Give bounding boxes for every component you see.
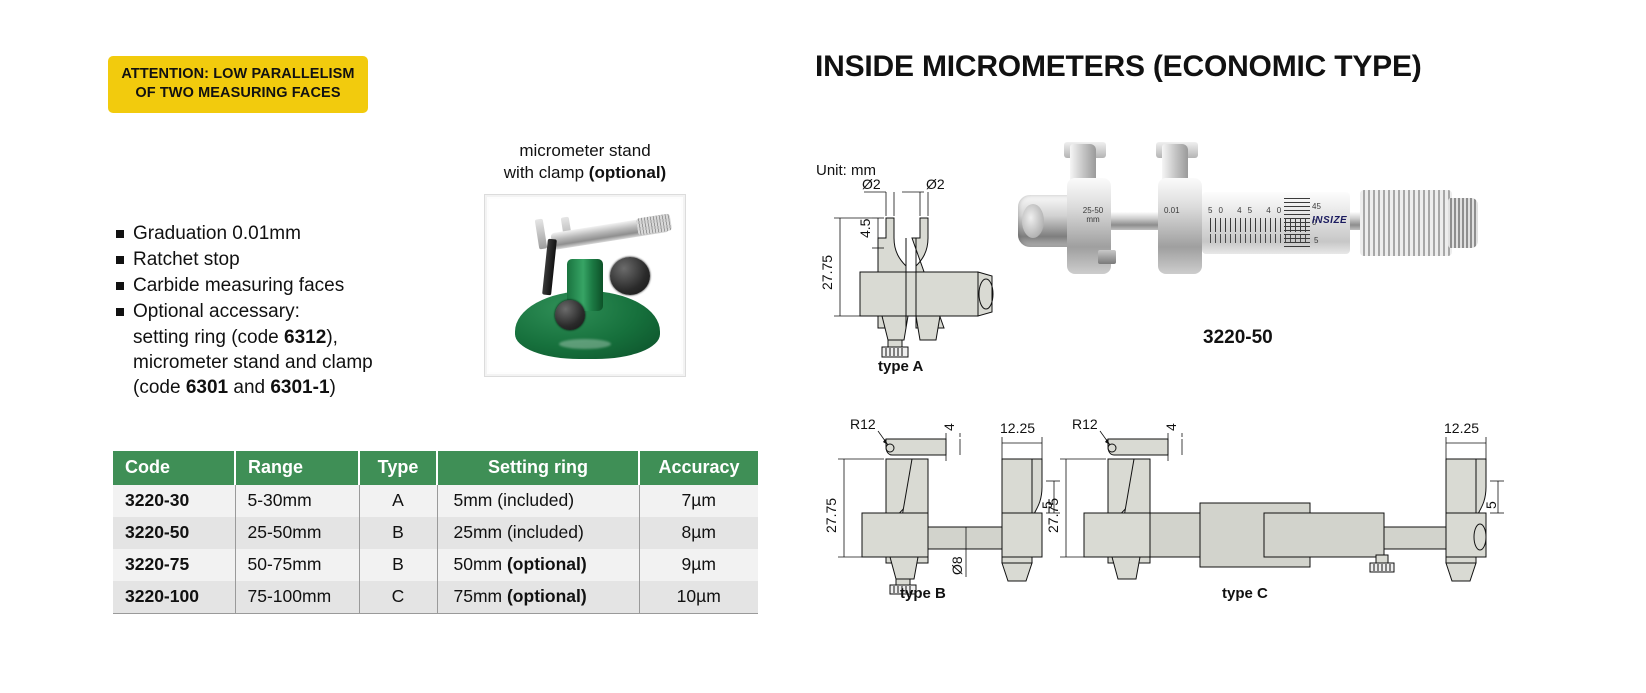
photo-thimble-5: 5 (1314, 236, 1318, 245)
square-bullet-icon (116, 308, 124, 316)
dim-radius: R12 (850, 416, 876, 432)
cell-setting-ring: 5mm (included) (437, 485, 639, 517)
subline-post: ), (326, 327, 338, 348)
cell-accuracy: 10µm (639, 581, 758, 614)
feature-label: Carbide measuring faces (133, 273, 344, 298)
ratchet-stop (1448, 198, 1478, 248)
stand-base-highlight (559, 339, 611, 349)
list-item: Carbide measuring faces (116, 273, 476, 298)
cell-range: 50-75mm (235, 549, 359, 581)
table-row[interactable]: 3220-100 75-100mm C 75mm (optional) 10µm (113, 581, 758, 614)
dim-thickness: 4 (941, 423, 957, 431)
stand-photo-caption: micrometer stand with clamp (optional) (470, 140, 700, 184)
caption-line-2: with clamp (optional) (470, 162, 700, 184)
micrometer-jaw-left (535, 219, 548, 250)
cell-range: 5-30mm (235, 485, 359, 517)
cell-setting-ring: 25mm (included) (437, 517, 639, 549)
dim-jaw: 5 (1483, 501, 1499, 509)
column-header-setting-ring: Setting ring (437, 451, 639, 485)
stand-photo-inner (489, 199, 681, 372)
dim-width: 12.25 (1000, 420, 1035, 436)
dim-width: 12.25 (1444, 420, 1479, 436)
table-row[interactable]: 3220-50 25-50mm B 25mm (included) 8µm (113, 517, 758, 549)
feature-label: Optional accessary: (133, 299, 300, 324)
dim-thickness: 4 (1163, 423, 1179, 431)
cell-accuracy: 7µm (639, 485, 758, 517)
ring-availability: (included) (497, 490, 574, 510)
type-a-drawing: Ø2 Ø2 4.5 27.75 (820, 180, 1010, 360)
type-c-drawing: R12 4 12.25 27.75 5 (1040, 415, 1490, 590)
caption-line-1: micrometer stand (470, 140, 700, 162)
photo-thimble-45: 45 (1312, 202, 1321, 211)
caption-type-a: type A (878, 358, 923, 375)
clamp-knob-large (610, 257, 650, 295)
list-item: Optional accessary: (116, 299, 476, 324)
optional-emphasis: (optional) (589, 163, 666, 182)
cell-type: B (359, 549, 437, 581)
subline-pre: micrometer stand and clamp (133, 352, 373, 373)
feature-subline-setting-ring: setting ring (code 6312), (116, 325, 476, 350)
model-number-label: 3220-50 (1203, 327, 1273, 349)
cell-range: 75-100mm (235, 581, 359, 614)
dim-radius: R12 (1072, 416, 1098, 432)
caption-type-b: type B (900, 585, 946, 602)
cell-code: 3220-75 (113, 549, 235, 581)
code-6301-1: 6301-1 (270, 377, 329, 398)
ring-availability: (included) (507, 522, 584, 542)
cell-code: 3220-30 (113, 485, 235, 517)
attention-warning-badge: ATTENTION: LOW PARALLELISM OF TWO MEASUR… (108, 56, 368, 113)
cell-code: 3220-50 (113, 517, 235, 549)
square-bullet-icon (116, 256, 124, 264)
cell-type: B (359, 517, 437, 549)
subline-post: ) (330, 377, 336, 398)
cell-setting-ring: 50mm (optional) (437, 549, 639, 581)
list-item: Ratchet stop (116, 247, 476, 272)
micrometer-thimble (1360, 190, 1452, 256)
feature-list: Graduation 0.01mm Ratchet stop Carbide m… (116, 221, 476, 400)
specification-table: Code Range Type Setting ring Accuracy 32… (113, 451, 758, 614)
feature-label: Ratchet stop (133, 247, 240, 272)
square-bullet-icon (116, 282, 124, 290)
cell-range: 25-50mm (235, 517, 359, 549)
photo-graduation-marking: 0.01 (1164, 206, 1180, 215)
photo-range-marking: 25-50 mm (1074, 206, 1112, 224)
thimble-scale-marks (1284, 198, 1310, 248)
column-header-range: Range (235, 451, 359, 485)
clamp-knob-small (555, 300, 585, 330)
dim-height: 27.75 (823, 498, 839, 533)
subline-mid: and (228, 377, 270, 398)
column-header-accuracy: Accuracy (639, 451, 758, 485)
table-row[interactable]: 3220-75 50-75mm B 50mm (optional) 9µm (113, 549, 758, 581)
dim-height: 27.75 (819, 255, 835, 290)
locking-screw (1098, 250, 1116, 264)
code-6301: 6301 (186, 377, 228, 398)
dim-dia-right: Ø2 (926, 176, 945, 192)
subline-pre: setting ring (code (133, 327, 284, 348)
column-header-code: Code (113, 451, 235, 485)
cell-type: C (359, 581, 437, 614)
cell-setting-ring: 75mm (optional) (437, 581, 639, 614)
anvil-collar-right (1158, 178, 1202, 274)
type-b-drawing: R12 4 12.25 27.75 Ø8 5 (820, 415, 1070, 590)
square-bullet-icon (116, 230, 124, 238)
attention-line-1: ATTENTION: LOW PARALLELISM (114, 65, 362, 84)
ring-availability: (optional) (507, 554, 587, 574)
column-header-type: Type (359, 451, 437, 485)
cell-accuracy: 8µm (639, 517, 758, 549)
cell-type: A (359, 485, 437, 517)
caption-type-c: type C (1222, 585, 1268, 602)
feature-subline-stand: micrometer stand and clamp (116, 350, 476, 375)
attention-line-2: OF TWO MEASURING FACES (114, 84, 362, 103)
photo-scale-numbers: 50 45 40 (1208, 206, 1287, 215)
dim-dia-left: Ø2 (862, 176, 881, 192)
ring-availability: (optional) (507, 586, 587, 606)
code-6312: 6312 (284, 327, 326, 348)
page-title: INSIDE MICROMETERS (ECONOMIC TYPE) (815, 50, 1422, 84)
dim-tip-length: 4.5 (857, 218, 873, 238)
table-header-row: Code Range Type Setting ring Accuracy (113, 451, 758, 485)
feature-subline-codes: (code 6301 and 6301-1) (116, 375, 476, 400)
cell-code: 3220-100 (113, 581, 235, 614)
micrometer-thimble (636, 213, 672, 235)
dim-height: 27.75 (1045, 498, 1061, 533)
subline-pre: (code (133, 377, 186, 398)
cell-accuracy: 9µm (639, 549, 758, 581)
list-item: Graduation 0.01mm (116, 221, 476, 246)
micrometer-stand-photo (484, 194, 686, 377)
product-photo-micrometer: 25-50 mm 0.01 50 45 40 45 0 5 INSIZE (1012, 140, 1482, 315)
table-row[interactable]: 3220-30 5-30mm A 5mm (included) 7µm (113, 485, 758, 517)
dim-bore: Ø8 (949, 556, 965, 575)
brand-logo-insize: INSIZE (1312, 216, 1347, 225)
feature-label: Graduation 0.01mm (133, 221, 301, 246)
